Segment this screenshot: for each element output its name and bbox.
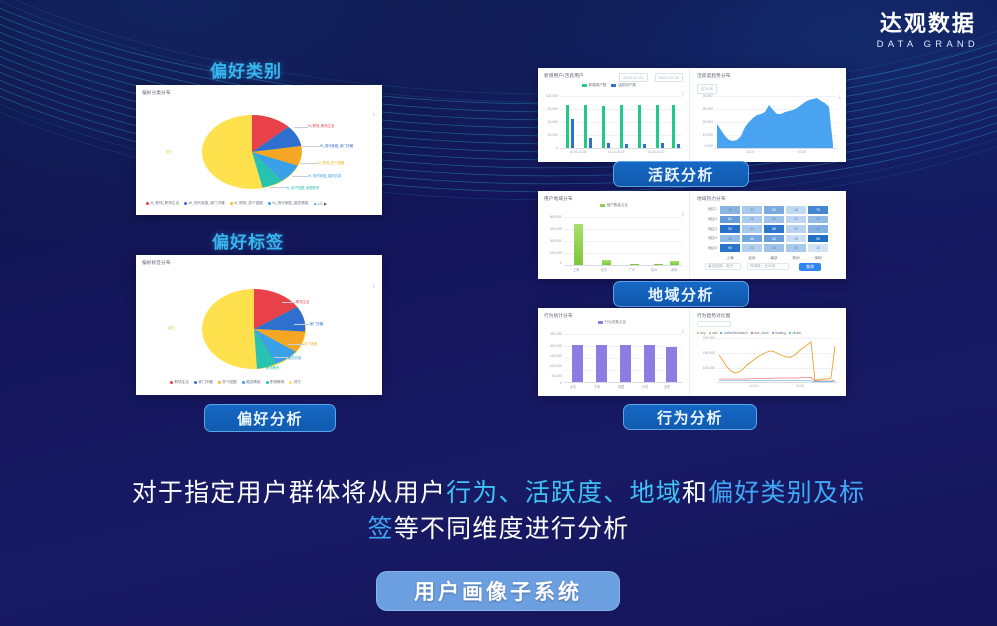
legend-region-bar: 用户数量占比 xyxy=(600,203,628,208)
section-label-preference-category: 偏好类别 xyxy=(210,57,282,82)
legend-item: nav_show xyxy=(751,331,769,335)
heatmap-cell[interactable]: 30 xyxy=(785,243,807,253)
heatmap-cell[interactable]: 95 xyxy=(807,234,829,244)
pie-leader-line-4 xyxy=(292,176,308,177)
pie-leader-line-3 xyxy=(288,344,304,345)
heatmap-cell[interactable]: 28 xyxy=(741,215,763,225)
date-to-field[interactable]: 2023-10-31 xyxy=(655,73,683,82)
heatmap-col-label: 杭州 xyxy=(785,256,807,261)
pie-leader-line-2 xyxy=(302,146,320,147)
heatmap-row-label: 地区5 xyxy=(693,246,717,251)
download-icon[interactable]: ⤓ xyxy=(839,94,841,100)
legend-pref-category: M_职场_职场生活 W_现代家庭_家门冷暖 M_职场_异个团圈 W_现代家庭_婚… xyxy=(146,201,327,206)
heatmap-row-label: 地区1 xyxy=(693,207,717,212)
query-button[interactable]: 查询 xyxy=(799,263,821,271)
pie-label-1: 职场生活 xyxy=(296,299,309,304)
legend-item: cart xyxy=(709,331,718,335)
download-icon[interactable]: ⤓ xyxy=(682,90,684,96)
heatmap-cell[interactable]: 22 xyxy=(785,224,807,234)
pie-leader-line-1 xyxy=(294,127,308,128)
plot-area-active-users xyxy=(560,96,682,148)
pie-leader-line-4 xyxy=(274,357,288,358)
legend-item: W_现代家庭_家门冷暖 xyxy=(184,201,225,206)
panel-region-heatmap: 地域热力分布 453052187862283520409230882248405… xyxy=(691,191,846,279)
chart-title-region-bar: 用户地域分布 xyxy=(544,196,573,202)
pie-leader-line-2 xyxy=(294,324,310,325)
legend-item: 活跃用户数 xyxy=(611,83,635,88)
heatmap-cell[interactable]: 10 xyxy=(807,243,829,253)
heatmap-grid[interactable]: 4530521878622835204092308822484055601595… xyxy=(719,205,829,253)
heatmap-cell[interactable]: 48 xyxy=(807,224,829,234)
pill-preference-analysis[interactable]: 偏好分析 xyxy=(204,404,336,432)
legend-item: 职场生活 xyxy=(170,380,189,385)
heatmap-cell[interactable]: 78 xyxy=(807,205,829,215)
pie-chart-pref-category xyxy=(198,115,306,194)
heatmap-cell[interactable]: 55 xyxy=(741,234,763,244)
pie-label-3: 异个团圈 xyxy=(304,341,317,346)
pie-leader-line-1 xyxy=(282,302,296,303)
heatmap-col-label: 上海 xyxy=(719,256,741,261)
pie-label-4: W_现代家庭_婚恋情感 xyxy=(308,173,341,178)
pie-leader-line-3 xyxy=(300,163,318,164)
legend-item: 职场教育 xyxy=(266,380,285,385)
brand-name-en: DATA GRAND xyxy=(877,39,979,50)
heatmap-cell[interactable]: 88 xyxy=(763,224,785,234)
pie-leader-line-5 xyxy=(270,187,286,188)
pie-label-5: 职场教育 xyxy=(266,365,279,370)
pie-label-2: 家门冷暖 xyxy=(310,321,323,326)
card-preference-category-chart[interactable]: 偏好分类分布 ⤓ M_职场_职场生活 W_现代家庭_家门冷暖 M_职场_异个团圈… xyxy=(136,85,382,215)
period-select[interactable]: 时间段：近30天 xyxy=(747,263,789,270)
behavior-filter[interactable] xyxy=(697,321,731,327)
card-preference-tag-chart[interactable]: 偏好标签分布 ⤓ 职场生活 家门冷暖 异个团圈 婚恋情感 职场教育 其它 xyxy=(136,255,382,395)
chart-title-active-users: 新增用户/活跃用户 xyxy=(544,73,584,79)
legend-item: 其它 xyxy=(289,380,301,385)
heatmap-row-label: 地区4 xyxy=(693,236,717,241)
heatmap-cell[interactable]: 30 xyxy=(741,205,763,215)
pie-label-4: 婚恋情感 xyxy=(288,355,301,360)
pie-label-6: 其它 xyxy=(168,325,175,330)
panel-region-bar: 用户地域分布 用户数量占比 ⤓ 500,000 400,000 300,000 … xyxy=(538,191,690,279)
section-label-preference-tag: 偏好标签 xyxy=(212,228,284,253)
legend-item: 新增用户数 xyxy=(582,83,606,88)
legend-item: M_职场_异个团圈 xyxy=(230,201,263,206)
pill-behavior-analysis[interactable]: 行为分析 xyxy=(623,404,757,430)
heatmap-cell[interactable]: 35 xyxy=(763,243,785,253)
heatmap-cell[interactable]: 92 xyxy=(719,224,741,234)
chart-title-behavior-bar: 行为统计分布 xyxy=(544,313,573,319)
plot-area-region-bar xyxy=(564,217,682,265)
summary-part-3: 等不同维度进行分析 xyxy=(394,515,630,543)
legend-item: collection/search xyxy=(720,331,747,335)
download-icon[interactable]: ⤓ xyxy=(682,328,684,334)
province-select[interactable]: 省份选择：电子 xyxy=(705,263,741,270)
summary-highlight-1: 行为、活跃度、地域 xyxy=(446,479,682,507)
pie-label-3: M_职场_异个团圈 xyxy=(318,160,344,165)
legend-behavior-bar: 行为次数占比 xyxy=(598,320,626,325)
legend-item: 家门冷暖 xyxy=(194,380,213,385)
heatmap-cell[interactable]: 15 xyxy=(785,234,807,244)
pill-subsystem[interactable]: 用户画像子系统 xyxy=(376,571,620,611)
download-icon[interactable]: ⤓ xyxy=(682,211,684,217)
card-behavior-analysis[interactable]: 行为统计分布 行为次数占比 ⤓ 250,000 200,000 150,000 … xyxy=(538,308,846,396)
heatmap-cell[interactable]: 52 xyxy=(763,205,785,215)
heatmap-cell[interactable]: 35 xyxy=(763,215,785,225)
panel-new-active-users: 新增用户/活跃用户 2023-10-01 2023-10-31 新增用户数 活跃… xyxy=(538,68,690,162)
heatmap-cell[interactable]: 40 xyxy=(807,215,829,225)
summary-text: 对于指定用户群体将从用户行为、活跃度、地域和偏好类别及标签等不同维度进行分析 xyxy=(0,476,997,547)
legend-item: W_现代家庭_婚恋情感 xyxy=(268,201,309,206)
legend-item: M_职场_职场生活 xyxy=(146,201,179,206)
heatmap-cell[interactable]: 40 xyxy=(719,234,741,244)
download-icon[interactable]: ⤓ xyxy=(373,111,375,117)
summary-highlight-2: 偏好类别及标 xyxy=(708,479,865,507)
heatmap-cell[interactable]: 25 xyxy=(741,243,763,253)
legend-item: 婚恋情感 xyxy=(242,380,261,385)
card-active-analysis[interactable]: 新增用户/活跃用户 2023-10-01 2023-10-31 新增用户数 活跃… xyxy=(538,68,846,162)
plot-area-behavior-bar xyxy=(564,334,682,382)
legend-behavior-line: buy cart collection/search nav_show read… xyxy=(697,331,801,335)
pill-region-analysis[interactable]: 地域分析 xyxy=(613,281,749,307)
heatmap-cell[interactable]: 20 xyxy=(785,215,807,225)
pie-label-6: 其它 xyxy=(166,149,173,154)
summary-part-1: 对于指定用户群体将从用户 xyxy=(132,479,446,507)
brand-logo: 达观数据 DATA GRAND xyxy=(877,12,979,50)
heatmap-cell[interactable]: 60 xyxy=(763,234,785,244)
pie-label-1: M_职场_职场生活 xyxy=(308,123,334,128)
download-icon[interactable]: ⤓ xyxy=(373,283,375,289)
heatmap-col-label: 南京 xyxy=(763,256,785,261)
heatmap-cell[interactable]: 62 xyxy=(719,215,741,225)
heatmap-cell[interactable]: 18 xyxy=(785,205,807,215)
range-selector[interactable]: 近30天 xyxy=(697,84,717,94)
legend-item: 行为次数占比 xyxy=(598,320,626,325)
heatmap-cell[interactable]: 45 xyxy=(719,205,741,215)
heatmap-col-label: 北京 xyxy=(741,256,763,261)
heatmap-cell[interactable]: 30 xyxy=(741,224,763,234)
legend-active-users: 新增用户数 活跃用户数 xyxy=(582,83,636,88)
pill-active-analysis[interactable]: 活跃分析 xyxy=(613,161,749,187)
pie-label-5: W_亲子团圈_家庭教育 xyxy=(286,185,319,190)
panel-active-trend: 活跃度趋势分布 近30天 ⤓ 30,000 25,000 20,000 10,0… xyxy=(691,68,846,162)
chart-title-region-heatmap: 地域热力分布 xyxy=(697,196,726,202)
chart-toolbar[interactable]: 2023-10-01 2023-10-31 xyxy=(619,73,683,82)
heatmap-col-label: 深圳 xyxy=(807,256,829,261)
summary-highlight-3: 签 xyxy=(367,515,393,543)
brand-name-cn: 达观数据 xyxy=(877,12,979,36)
legend-item: reading xyxy=(772,331,786,335)
legend-pref-tag: 职场生活 家门冷暖 异个团圈 婚恋情感 职场教育 其它 xyxy=(170,380,301,385)
legend-item: clicker xyxy=(789,331,802,335)
plot-area-active-trend xyxy=(715,96,837,148)
plot-area-behavior-line xyxy=(717,338,837,382)
heatmap-row-label: 地区3 xyxy=(693,227,717,232)
heatmap-cell[interactable]: 90 xyxy=(719,243,741,253)
legend-pager[interactable]: ◀1/2▶ xyxy=(313,202,327,206)
heatmap-row-label: 地区2 xyxy=(693,217,717,222)
legend-item: 用户数量占比 xyxy=(600,203,628,208)
pie-label-2: W_现代家庭_家门冷暖 xyxy=(320,143,353,148)
slide-background: 达观数据 DATA GRAND 偏好类别 偏好分类分布 ⤓ M_职场_职场生活 … xyxy=(0,0,997,626)
panel-behavior-bar: 行为统计分布 行为次数占比 ⤓ 250,000 200,000 150,000 … xyxy=(538,308,690,396)
summary-part-2: 和 xyxy=(682,479,708,507)
date-from-field[interactable]: 2023-10-01 xyxy=(619,73,647,82)
chart-title-pref-category: 偏好分类分布 xyxy=(142,90,171,96)
chart-title-behavior-line: 行为趋势对比图 xyxy=(697,313,731,319)
legend-item: buy xyxy=(697,331,706,335)
chart-title-active-trend: 活跃度趋势分布 xyxy=(697,73,731,79)
chart-title-pref-tag: 偏好标签分布 xyxy=(142,260,171,266)
panel-behavior-line: 行为趋势对比图 buy cart collection/search nav_s… xyxy=(691,308,846,396)
card-region-analysis[interactable]: 用户地域分布 用户数量占比 ⤓ 500,000 400,000 300,000 … xyxy=(538,191,846,279)
legend-item: 异个团圈 xyxy=(218,380,237,385)
